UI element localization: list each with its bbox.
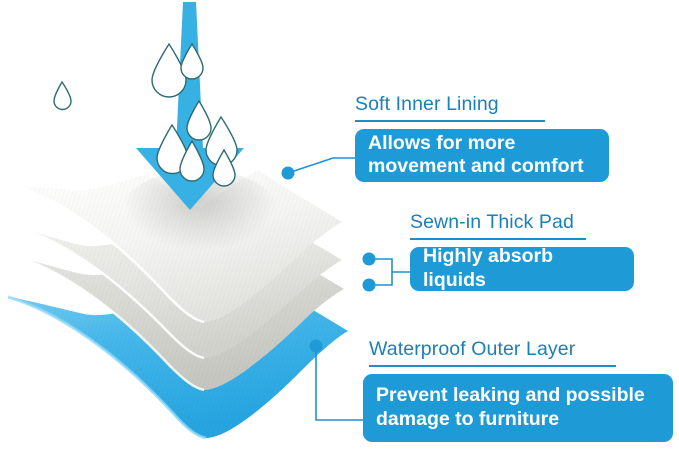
callout-3-heading: Waterproof Outer Layer [363,337,673,365]
droplet [54,82,71,110]
layered-pad-illustration [0,0,380,456]
callout-soft-inner-lining: Soft Inner Lining Allows for more moveme… [355,92,610,182]
callout-3-box: Prevent leaking and possible damage to f… [363,374,673,442]
infographic-canvas: Soft Inner Lining Allows for more moveme… [0,0,679,456]
callout-1-line-1: Allows for more [368,132,584,156]
callout-sewn-in-thick-pad: Sewn-in Thick Pad Highly absorb liquids [410,210,634,291]
callout-1-heading: Soft Inner Lining [355,92,610,120]
callout-1-box: Allows for more movement and comfort [355,129,609,182]
callout-3-line-1: Prevent leaking and possible [376,384,645,408]
callout-2-box: Highly absorb liquids [410,247,634,291]
callout-1-line-2: movement and comfort [368,155,584,179]
callout-2-heading: Sewn-in Thick Pad [410,210,634,238]
callout-3-line-2: damage to furniture [376,408,645,432]
callout-3-heading-rule [369,365,616,367]
callout-2-heading-rule [410,238,586,240]
callout-1-heading-rule [355,120,545,122]
callout-2-line-1: Highly absorb liquids [423,245,621,292]
callout-waterproof-outer-layer: Waterproof Outer Layer Prevent leaking a… [363,337,673,442]
